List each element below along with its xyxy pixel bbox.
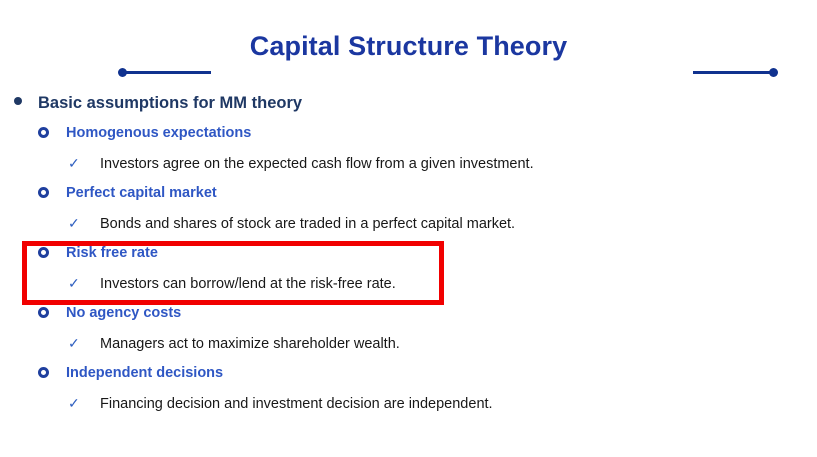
ring-bullet-icon — [38, 358, 66, 388]
ring-bullet-icon — [38, 178, 66, 208]
check-bullet-icon: ✓ — [68, 388, 100, 418]
list-item-no-agency-costs-detail: ✓ Managers act to maximize shareholder w… — [0, 328, 817, 358]
list-item-basic-assumptions: Basic assumptions for MM theory — [0, 88, 817, 118]
outline-list: Basic assumptions for MM theory Homogeno… — [0, 88, 817, 418]
decoration-line-icon — [693, 71, 772, 74]
ring-bullet-icon — [38, 298, 66, 328]
list-item-no-agency-costs: No agency costs — [0, 298, 817, 328]
page-title: Capital Structure Theory — [0, 24, 817, 68]
check-bullet-icon: ✓ — [68, 148, 100, 178]
list-item-label: Investors agree on the expected cash flo… — [100, 149, 534, 179]
ring-bullet-icon — [38, 118, 66, 148]
list-item-label: Investors can borrow/lend at the risk-fr… — [100, 269, 396, 299]
list-item-label: Homogenous expectations — [66, 118, 251, 148]
list-item-risk-free-rate-detail: ✓ Investors can borrow/lend at the risk-… — [0, 268, 817, 298]
list-item-label: Risk free rate — [66, 238, 158, 268]
disc-bullet-icon — [14, 89, 38, 119]
list-item-label: Basic assumptions for MM theory — [38, 88, 302, 118]
title-decoration-left — [118, 68, 213, 78]
list-item-label: Managers act to maximize shareholder wea… — [100, 329, 400, 359]
decoration-line-icon — [124, 71, 211, 74]
ring-bullet-icon — [38, 238, 66, 268]
list-item-label: Independent decisions — [66, 358, 223, 388]
list-item-label: Financing decision and investment decisi… — [100, 389, 493, 419]
list-item-independent-decisions-detail: ✓ Financing decision and investment deci… — [0, 388, 817, 418]
list-item-perfect-capital-market: Perfect capital market — [0, 178, 817, 208]
list-item-risk-free-rate: Risk free rate — [0, 238, 817, 268]
decoration-dot-icon — [769, 68, 778, 77]
list-item-homogenous-expectations-detail: ✓ Investors agree on the expected cash f… — [0, 148, 817, 178]
list-item-homogenous-expectations: Homogenous expectations — [0, 118, 817, 148]
list-item-label: Perfect capital market — [66, 178, 217, 208]
list-item-independent-decisions: Independent decisions — [0, 358, 817, 388]
title-decoration-right — [693, 68, 778, 78]
title-row: Capital Structure Theory — [0, 24, 817, 72]
check-bullet-icon: ✓ — [68, 328, 100, 358]
list-item-label: No agency costs — [66, 298, 181, 328]
list-item-perfect-capital-market-detail: ✓ Bonds and shares of stock are traded i… — [0, 208, 817, 238]
slide-canvas: Capital Structure Theory Basic assumptio… — [0, 0, 817, 457]
check-bullet-icon: ✓ — [68, 208, 100, 238]
list-item-label: Bonds and shares of stock are traded in … — [100, 209, 515, 239]
check-bullet-icon: ✓ — [68, 268, 100, 298]
